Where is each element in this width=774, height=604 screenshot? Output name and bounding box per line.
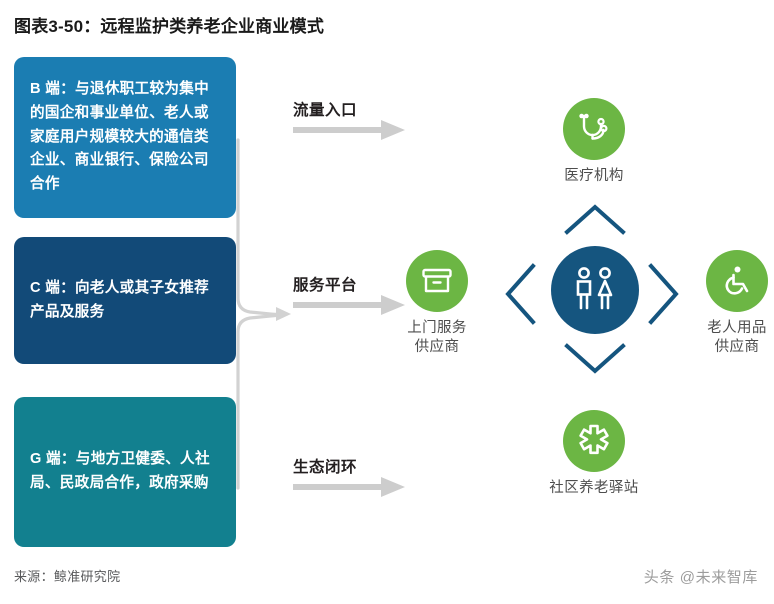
arrow-right-icon bbox=[293, 295, 405, 315]
source-note: 来源：鲸准研究院 bbox=[14, 566, 120, 585]
stakeholder-c-end-text: C 端：向老人或其子女推荐产品及服务 bbox=[30, 277, 220, 324]
node-home-service: 上门服务 供应商 bbox=[390, 250, 484, 357]
stakeholder-b-end-text: B 端：与退休职工较为集中的国企和事业单位、老人或家庭用户规模较大的通信类企业、… bbox=[30, 78, 220, 196]
elderly-supplies-label: 老人用品 供应商 bbox=[690, 319, 774, 357]
wheelchair-icon bbox=[720, 264, 754, 298]
community-station-label: 社区养老驿站 bbox=[520, 479, 668, 498]
chevron-left-icon bbox=[504, 262, 536, 326]
arrow-right-icon bbox=[293, 477, 405, 497]
page-title: 图表3-50：远程监护类养老企业商业模式 bbox=[14, 12, 324, 37]
stakeholder-box-b-end: B 端：与退休职工较为集中的国企和事业单位、老人或家庭用户规模较大的通信类企业、… bbox=[14, 57, 236, 218]
medical-star-icon bbox=[576, 423, 612, 459]
home-service-circle bbox=[406, 250, 468, 312]
bracket-connector bbox=[236, 138, 298, 490]
elderly-supplies-circle bbox=[706, 250, 768, 312]
arrow-right-icon bbox=[293, 120, 405, 140]
watermark: 头条 @未来智库 bbox=[644, 566, 758, 587]
box-icon bbox=[420, 264, 454, 298]
flow-label-eco-closed-loop: 生态闭环 bbox=[293, 455, 357, 477]
flow-label-traffic-entry: 流量入口 bbox=[293, 98, 357, 120]
stakeholder-g-end-text: G 端：与地方卫健委、人社局、民政局合作，政府采购 bbox=[30, 448, 220, 495]
stethoscope-icon bbox=[576, 111, 612, 147]
medical-institution-circle bbox=[563, 98, 625, 160]
flow-label-service-platform: 服务平台 bbox=[293, 273, 357, 295]
chevron-up-icon bbox=[563, 203, 627, 235]
node-elderly-supplies: 老人用品 供应商 bbox=[690, 250, 774, 357]
node-community-station: 社区养老驿站 bbox=[520, 410, 668, 498]
elderly-couple-icon bbox=[568, 263, 622, 317]
stakeholder-box-g-end: G 端：与地方卫健委、人社局、民政局合作，政府采购 bbox=[14, 397, 236, 547]
stakeholder-box-c-end: C 端：向老人或其子女推荐产品及服务 bbox=[14, 237, 236, 364]
node-medical-institution: 医疗机构 bbox=[534, 98, 654, 186]
hub-elderly-users bbox=[551, 246, 639, 334]
chevron-down-icon bbox=[563, 343, 627, 375]
chevron-right-icon bbox=[648, 262, 680, 326]
medical-institution-label: 医疗机构 bbox=[534, 167, 654, 186]
infographic-page: 图表3-50：远程监护类养老企业商业模式 B 端：与退休职工较为集中的国企和事业… bbox=[0, 0, 774, 604]
home-service-label: 上门服务 供应商 bbox=[390, 319, 484, 357]
community-station-circle bbox=[563, 410, 625, 472]
